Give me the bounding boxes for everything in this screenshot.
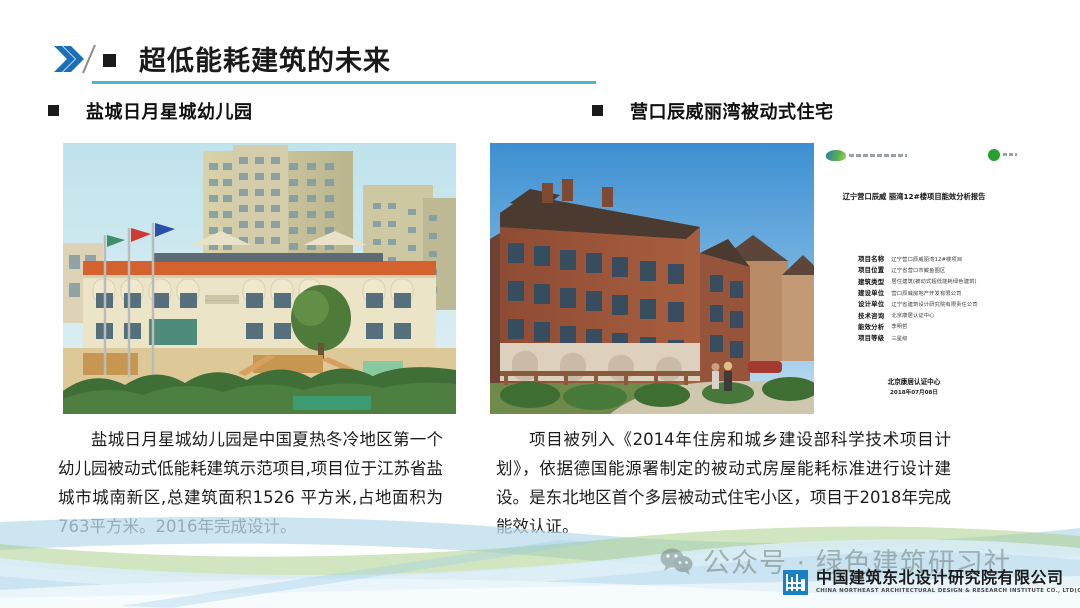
report-field-row: 项目名称 辽宁营口辰威丽湾12#楼项目: [858, 253, 978, 264]
report-date: 2018年07月08日: [814, 388, 1014, 396]
report-field-value: 居住建筑(被动式超低能耗绿色建筑): [891, 277, 976, 285]
report-field-key: 项目等级: [858, 333, 884, 342]
report-field-row: 建设单位 营口辰威房地产开发有限公司: [858, 287, 978, 298]
report-field-value: 辽宁营口辰威丽湾12#楼项目: [891, 255, 962, 263]
report-field-value: 辽宁省营口市鲅鱼圈区: [891, 266, 945, 274]
report-field-value: 辽宁省建筑设计研究院有限责任公司: [891, 300, 977, 308]
report-field-key: 设计单位: [858, 299, 884, 308]
report-field-row: 建筑类型 居住建筑(被动式超低能耗绿色建筑): [858, 276, 978, 287]
cnadri-logo-icon: [783, 570, 808, 595]
double-chevron-icon: [52, 44, 96, 74]
header-bullet-icon: [103, 54, 116, 67]
report-field-key: 项目名称: [858, 254, 884, 263]
report-field-row: 技术咨询 北京康居认证中心: [858, 309, 978, 320]
slide-header: 超低能耗建筑的未来: [0, 18, 1080, 74]
report-field-row: 项目等级 三星级: [858, 332, 978, 343]
report-field-value: 营口辰威房地产开发有限公司: [891, 289, 961, 297]
report-issuer: 北京康居认证中心: [814, 376, 1014, 386]
report-field-value: 李明哲: [891, 322, 907, 330]
report-logo-right-icon: [988, 149, 1000, 161]
report-field-row: 项目位置 辽宁省营口市鲅鱼圈区: [858, 264, 978, 275]
report-field-key: 能效分析: [858, 322, 884, 331]
report-field-key: 项目位置: [858, 265, 884, 274]
report-logo-right-caption: [1003, 153, 1017, 156]
square-bullet-icon: [48, 105, 59, 116]
report-field-list: 项目名称 辽宁营口辰威丽湾12#楼项目 项目位置 辽宁省营口市鲅鱼圈区 建筑类型…: [858, 253, 978, 343]
report-field-row: 设计单位 辽宁省建筑设计研究院有限责任公司: [858, 298, 978, 309]
slide-canvas: 超低能耗建筑的未来 盐城日月星城幼儿园 营口辰威丽湾被动式住宅: [0, 0, 1080, 608]
company-names: 中国建筑东北设计研究院有限公司 CHINA NORTHEAST ARCHITEC…: [816, 570, 1080, 594]
paragraph-passive-housing: 项目被列入《2014年住房和城乡建设部科学技术项目计划》，依据德国能源署制定的被…: [496, 425, 951, 541]
section-label-left: 盐城日月星城幼儿园: [86, 98, 253, 124]
company-name-en: CHINA NORTHEAST ARCHITECTURAL DESIGN & R…: [816, 589, 1080, 594]
photo-passive-housing: 辽宁营口辰威 丽湾12#楼项目能效分析报告 项目名称 辽宁营口辰威丽湾12#楼项…: [490, 143, 1018, 414]
report-logo-left-icon: [826, 150, 846, 161]
report-field-key: 建设单位: [858, 288, 884, 297]
company-logo-block: 中国建筑东北设计研究院有限公司 CHINA NORTHEAST ARCHITEC…: [783, 570, 1080, 595]
report-field-value: 三星级: [891, 334, 907, 342]
photo-kindergarten: [63, 143, 456, 414]
report-footer: 北京康居认证中心 2018年07月08日: [814, 376, 1014, 396]
paragraph-kindergarten: 盐城日月星城幼儿园是中国夏热冬冷地区第一个幼儿园被动式低能耗建筑示范项目,项目位…: [58, 425, 443, 541]
page-title: 超低能耗建筑的未来: [139, 39, 391, 78]
header-divider: [92, 81, 596, 84]
report-field-value: 北京康居认证中心: [891, 311, 934, 319]
company-name-cn: 中国建筑东北设计研究院有限公司: [816, 568, 1064, 587]
square-bullet-icon: [592, 105, 603, 116]
report-field-row: 能效分析 李明哲: [858, 321, 978, 332]
report-field-key: 技术咨询: [858, 311, 884, 320]
kindergarten-illustration: [63, 143, 456, 414]
section-label-right: 营口辰威丽湾被动式住宅: [630, 98, 834, 124]
report-logo-left-caption: [849, 154, 907, 157]
report-title: 辽宁营口辰威 丽湾12#楼项目能效分析报告: [814, 192, 1014, 202]
report-field-key: 建筑类型: [858, 277, 884, 286]
energy-report-page: 辽宁营口辰威 丽湾12#楼项目能效分析报告 项目名称 辽宁营口辰威丽湾12#楼项…: [814, 143, 1018, 414]
wechat-icon: [660, 547, 694, 575]
